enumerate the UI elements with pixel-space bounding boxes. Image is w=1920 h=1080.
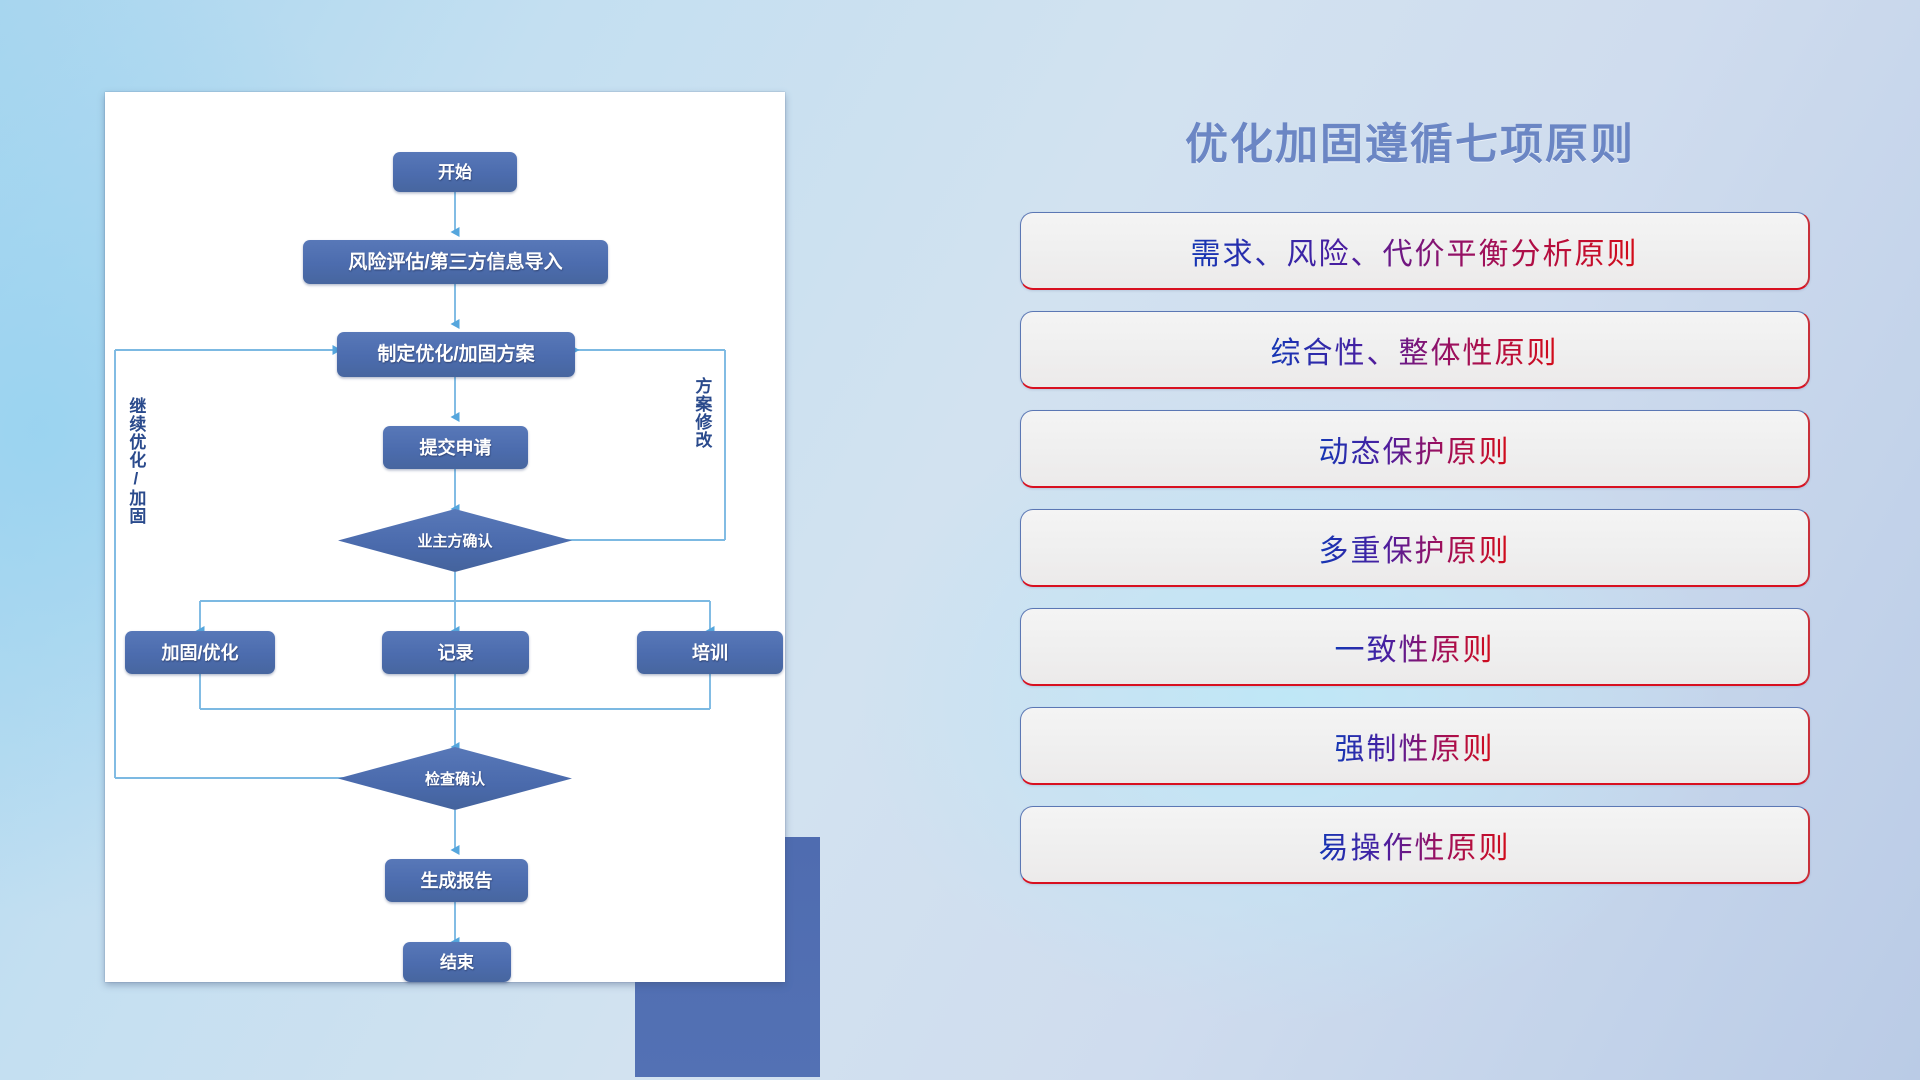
flow-node-label: 提交申请 bbox=[420, 439, 492, 457]
flow-node-label: 开始 bbox=[438, 164, 472, 181]
flow-node-start[interactable]: 开始 bbox=[393, 152, 517, 192]
flow-node-risk-assessment[interactable]: 风险评估/第三方信息导入 bbox=[303, 240, 608, 284]
flow-edge-label-plan-revision: 方案修改 bbox=[693, 377, 710, 449]
flow-node-submit-application[interactable]: 提交申请 bbox=[383, 426, 528, 469]
flow-decision-owner-confirm[interactable]: 业主方确认 bbox=[338, 509, 572, 572]
flowchart-panel: 开始 风险评估/第三方信息导入 制定优化/加固方案 提交申请 业主方确认 加固/… bbox=[105, 92, 793, 977]
flow-decision-inspection-confirm[interactable]: 检查确认 bbox=[338, 747, 572, 810]
principle-label: 动态保护原则 bbox=[1319, 427, 1511, 471]
flow-node-generate-report[interactable]: 生成报告 bbox=[385, 859, 528, 902]
flow-node-record[interactable]: 记录 bbox=[382, 631, 529, 674]
principle-card[interactable]: 多重保护原则 bbox=[1020, 509, 1810, 587]
flow-node-label: 加固/优化 bbox=[161, 644, 238, 662]
flow-node-label: 生成报告 bbox=[421, 872, 493, 890]
principle-label: 多重保护原则 bbox=[1319, 526, 1511, 570]
principles-list: 需求、风险、代价平衡分析原则 综合性、整体性原则 动态保护原则 多重保护原则 一… bbox=[1020, 212, 1810, 905]
principle-card[interactable]: 综合性、整体性原则 bbox=[1020, 311, 1810, 389]
principle-label: 一致性原则 bbox=[1335, 625, 1495, 669]
flow-edge-label-continue-optimize: 继续优化/加固 bbox=[127, 397, 144, 525]
principle-label: 易操作性原则 bbox=[1319, 823, 1511, 867]
principle-label: 强制性原则 bbox=[1335, 724, 1495, 768]
flow-node-end[interactable]: 结束 bbox=[403, 942, 511, 982]
flow-node-label: 结束 bbox=[440, 954, 474, 971]
flow-node-training[interactable]: 培训 bbox=[637, 631, 783, 674]
principle-label: 需求、风险、代价平衡分析原则 bbox=[1191, 229, 1639, 273]
principle-card[interactable]: 易操作性原则 bbox=[1020, 806, 1810, 884]
principle-label: 综合性、整体性原则 bbox=[1271, 328, 1559, 372]
principle-card[interactable]: 强制性原则 bbox=[1020, 707, 1810, 785]
flow-node-label: 制定优化/加固方案 bbox=[377, 345, 534, 364]
flow-node-label: 风险评估/第三方信息导入 bbox=[348, 253, 562, 272]
flow-node-label: 记录 bbox=[438, 644, 474, 662]
principle-card[interactable]: 动态保护原则 bbox=[1020, 410, 1810, 488]
flowchart-canvas: 开始 风险评估/第三方信息导入 制定优化/加固方案 提交申请 业主方确认 加固/… bbox=[105, 92, 785, 982]
principles-panel: 优化加固遵循七项原则 需求、风险、代价平衡分析原则 综合性、整体性原则 动态保护… bbox=[1000, 92, 1820, 1022]
flow-node-label: 检查确认 bbox=[425, 768, 485, 789]
flow-node-plan[interactable]: 制定优化/加固方案 bbox=[337, 332, 575, 377]
principle-card[interactable]: 需求、风险、代价平衡分析原则 bbox=[1020, 212, 1810, 290]
flow-node-reinforce[interactable]: 加固/优化 bbox=[125, 631, 275, 674]
page-title: 优化加固遵循七项原则 bbox=[1000, 110, 1820, 172]
flow-node-label: 业主方确认 bbox=[417, 530, 492, 551]
flow-node-label: 培训 bbox=[692, 644, 728, 662]
principle-card[interactable]: 一致性原则 bbox=[1020, 608, 1810, 686]
